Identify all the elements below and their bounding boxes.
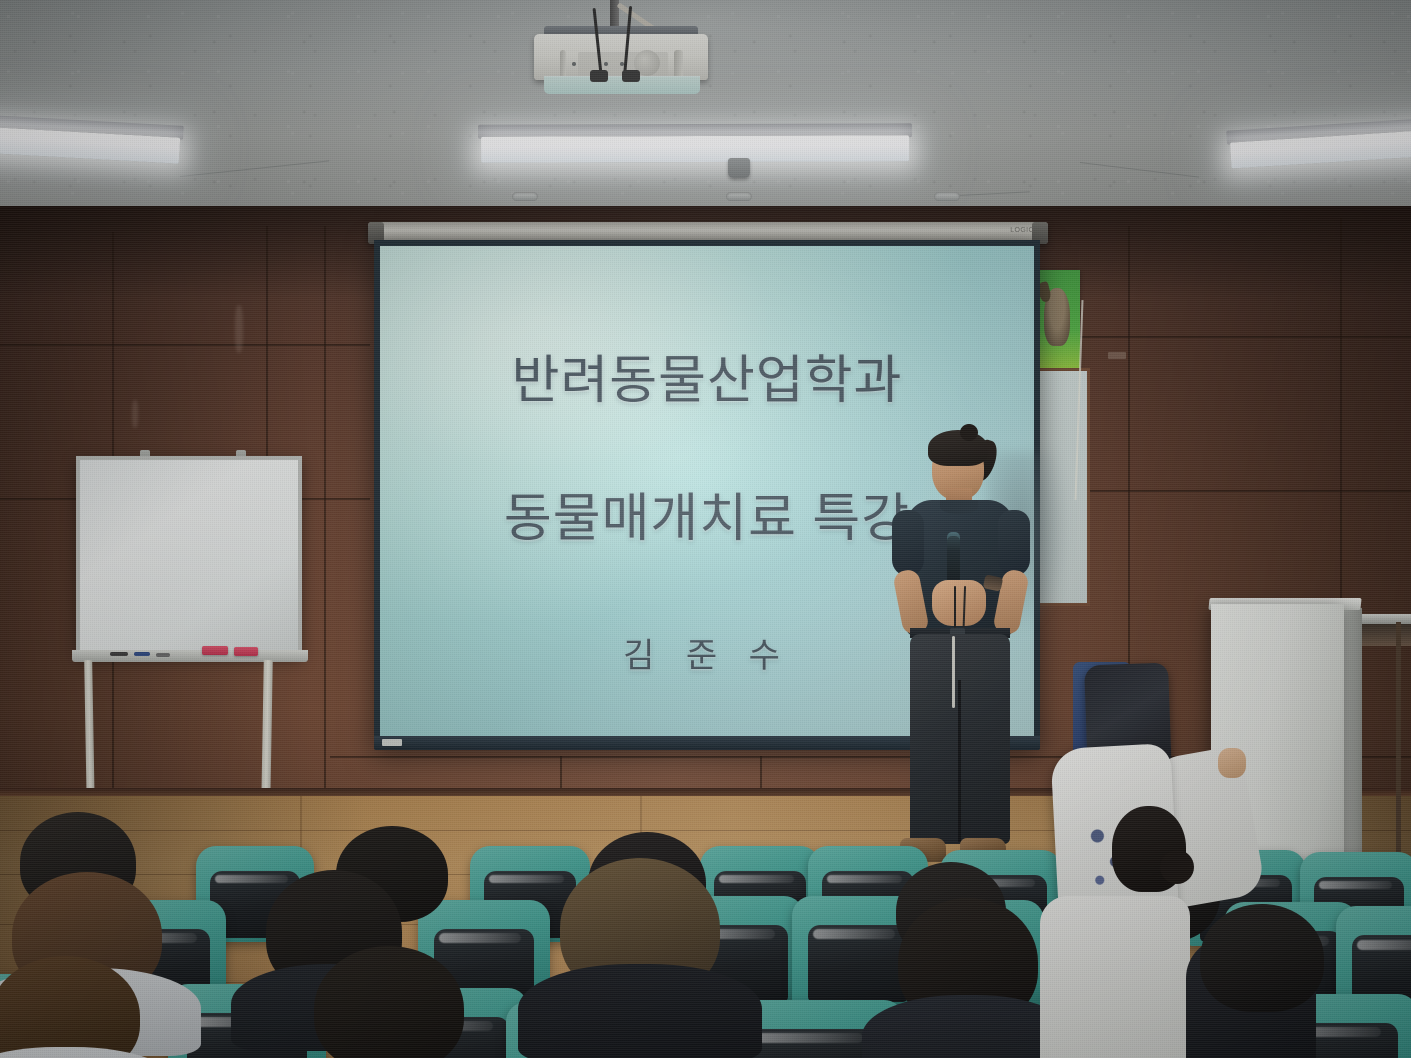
audience-person xyxy=(1200,904,1324,1012)
projector-indicator xyxy=(604,62,608,66)
projector-connector xyxy=(590,70,608,82)
person-hair xyxy=(314,946,464,1058)
whiteboard-eraser[interactable] xyxy=(234,647,258,656)
side-table xyxy=(1360,614,1411,624)
wall-panel-seam xyxy=(0,344,370,346)
projector-connector xyxy=(622,70,640,82)
ceiling-fitting xyxy=(726,192,752,201)
person-shoulders xyxy=(518,964,761,1058)
person-hair-bun xyxy=(1160,850,1194,884)
audience-person xyxy=(314,946,464,1058)
wall-scuff xyxy=(235,305,243,353)
housing-brand-label: LOGIC xyxy=(1010,227,1034,234)
projector-vent xyxy=(560,50,566,78)
whiteboard[interactable] xyxy=(76,456,302,656)
screen-label-tag xyxy=(382,739,402,746)
side-table-leg xyxy=(1396,622,1401,852)
lecture-hall-photo: LOGIC 반려동물산업학과 동물매개치료 특강 김 준 수 xyxy=(0,0,1411,1058)
speaker-hair xyxy=(928,430,988,466)
whiteboard-marker[interactable] xyxy=(110,652,128,656)
speaker-hands xyxy=(932,580,986,626)
pants-leg-seam xyxy=(958,680,961,842)
side-table-shadow xyxy=(1356,624,1411,646)
wall-scuff xyxy=(132,400,138,428)
light-tube xyxy=(481,135,909,162)
speaker-sleeve-right xyxy=(998,510,1030,576)
wall-panel-seam xyxy=(1040,336,1411,338)
dog-poster xyxy=(1036,270,1080,378)
speaker-sleeve-left xyxy=(892,510,924,576)
drawstring xyxy=(952,636,955,708)
smoke-detector-icon xyxy=(728,158,750,178)
person-hair xyxy=(0,956,140,1058)
person-hair xyxy=(1200,904,1324,1012)
whiteboard-marker[interactable] xyxy=(134,652,150,656)
person-torso xyxy=(1040,896,1190,1058)
projector-body xyxy=(534,34,708,80)
wall-panel-seam xyxy=(324,226,326,792)
speaker-hair-bun xyxy=(960,424,978,441)
whiteboard-eraser[interactable] xyxy=(202,646,228,655)
audience-person xyxy=(898,898,1038,1026)
person-hand xyxy=(1218,748,1246,778)
wall-fixture xyxy=(1108,352,1126,359)
audience-person xyxy=(560,858,720,998)
ceiling-fitting xyxy=(512,192,538,201)
ceiling-fitting xyxy=(934,192,960,201)
projector-indicator xyxy=(572,62,576,66)
ceiling-projector xyxy=(534,26,708,92)
audience-person xyxy=(0,956,140,1058)
wall-panel-seam xyxy=(1040,490,1411,492)
speaker-collar xyxy=(940,500,978,514)
whiteboard-marker[interactable] xyxy=(156,653,170,657)
speaker-person xyxy=(884,430,1040,886)
